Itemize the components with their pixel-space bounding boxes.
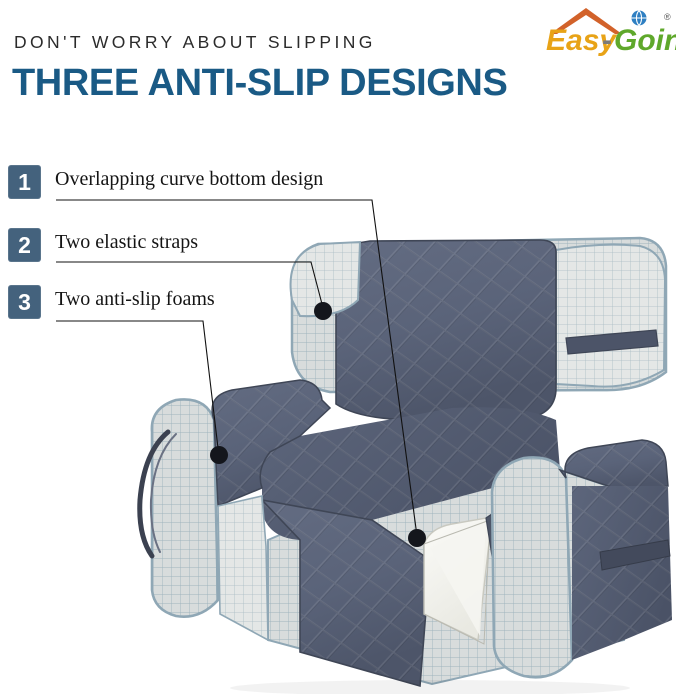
infographic-canvas: Easy - Going ® DON'T WORRY ABOUT SLIPPIN… (0, 0, 679, 694)
leader-line-2 (56, 262, 322, 304)
backrest-right-grid (556, 245, 665, 387)
chair-illustration (140, 238, 672, 694)
ground-shadow (230, 680, 630, 694)
left-armrest-grid-face (152, 399, 218, 616)
right-armrest-grid-face (492, 457, 572, 677)
left-arm-lower-grid (218, 496, 268, 640)
right-arm-side-quilt (572, 486, 672, 660)
anti-slip-foam-dot-arm (210, 446, 228, 464)
backrest-quilt-texture (336, 240, 556, 420)
elastic-strap-dot (314, 302, 332, 320)
product-illustration (0, 0, 679, 694)
anti-slip-foam-dot-seat (408, 529, 426, 547)
